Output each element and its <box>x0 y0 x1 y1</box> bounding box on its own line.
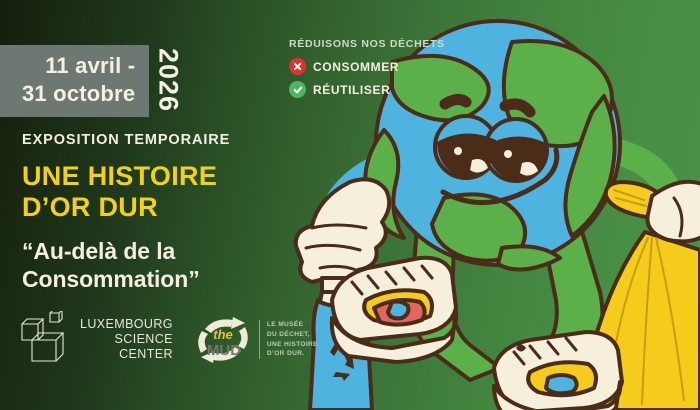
svg-text:the: the <box>213 327 233 342</box>
date-year: 2026 <box>149 45 183 117</box>
page-title: UNE HISTOIRE D’OR DUR <box>22 161 302 222</box>
legend-heading: RÉDUISONS NOS DÉCHETS <box>289 38 445 50</box>
lsc-line-1: LUXEMBOURG <box>80 317 173 332</box>
date-banner: 11 avril - 31 octobre 2026 <box>0 45 183 117</box>
exhibition-eyebrow: EXPOSITION TEMPORAIRE <box>22 132 302 149</box>
svg-text:MUD: MUD <box>207 342 241 359</box>
page-subtitle: “Au-delà de la Consommation” <box>22 238 302 293</box>
mud-tagline-4: D’OR DUR. <box>267 349 318 359</box>
legend-item-reutiliser: RÉUTILISER <box>289 81 445 98</box>
mud-tagline: LE MUSÉE DU DÉCHET, UNE HISTOIRE D’OR DU… <box>259 320 318 360</box>
cubes-icon <box>18 311 74 368</box>
lsc-wordmark: LUXEMBOURG SCIENCE CENTER <box>80 317 173 361</box>
mud-tagline-3: UNE HISTOIRE <box>267 340 318 350</box>
mud-tagline-1: LE MUSÉE <box>267 320 318 330</box>
the-mud-logo[interactable]: the MUD LE MUSÉE DU DÉCHET, UNE HISTOIRE… <box>193 315 318 365</box>
check-icon <box>289 81 306 98</box>
legend-label-consommer: CONSOMMER <box>313 60 399 74</box>
sneaker-right <box>494 332 622 410</box>
logo-row: LUXEMBOURG SCIENCE CENTER the <box>18 311 318 368</box>
poster-canvas: 11 avril - 31 octobre 2026 EXPOSITION TE… <box>0 0 700 410</box>
date-line-2: 31 octobre <box>22 80 135 108</box>
lsc-line-2: SCIENCE <box>80 332 173 347</box>
headline-block: EXPOSITION TEMPORAIRE UNE HISTOIRE D’OR … <box>22 132 302 294</box>
date-line-1: 11 avril - <box>22 52 135 80</box>
date-box: 11 avril - 31 octobre <box>0 45 149 117</box>
legend-item-consommer: CONSOMMER <box>289 58 445 75</box>
title-line-2: D’OR DUR <box>22 192 302 223</box>
recycle-arrows-icon: the MUD <box>193 315 253 365</box>
mud-tagline-2: DU DÉCHET, <box>267 330 318 340</box>
cross-icon <box>289 58 306 75</box>
legend-label-reutiliser: RÉUTILISER <box>313 83 390 97</box>
subtitle-line-1: “Au-delà de la <box>22 238 302 266</box>
title-line-1: UNE HISTOIRE <box>22 161 302 192</box>
subtitle-line-2: Consommation” <box>22 266 302 294</box>
waste-legend: RÉDUISONS NOS DÉCHETS CONSOMMER RÉUTILIS… <box>289 38 445 104</box>
sneaker-left <box>332 258 456 362</box>
mascot-eyes <box>435 116 547 181</box>
luxembourg-science-center-logo[interactable]: LUXEMBOURG SCIENCE CENTER <box>18 311 173 368</box>
lsc-line-3: CENTER <box>80 347 173 362</box>
